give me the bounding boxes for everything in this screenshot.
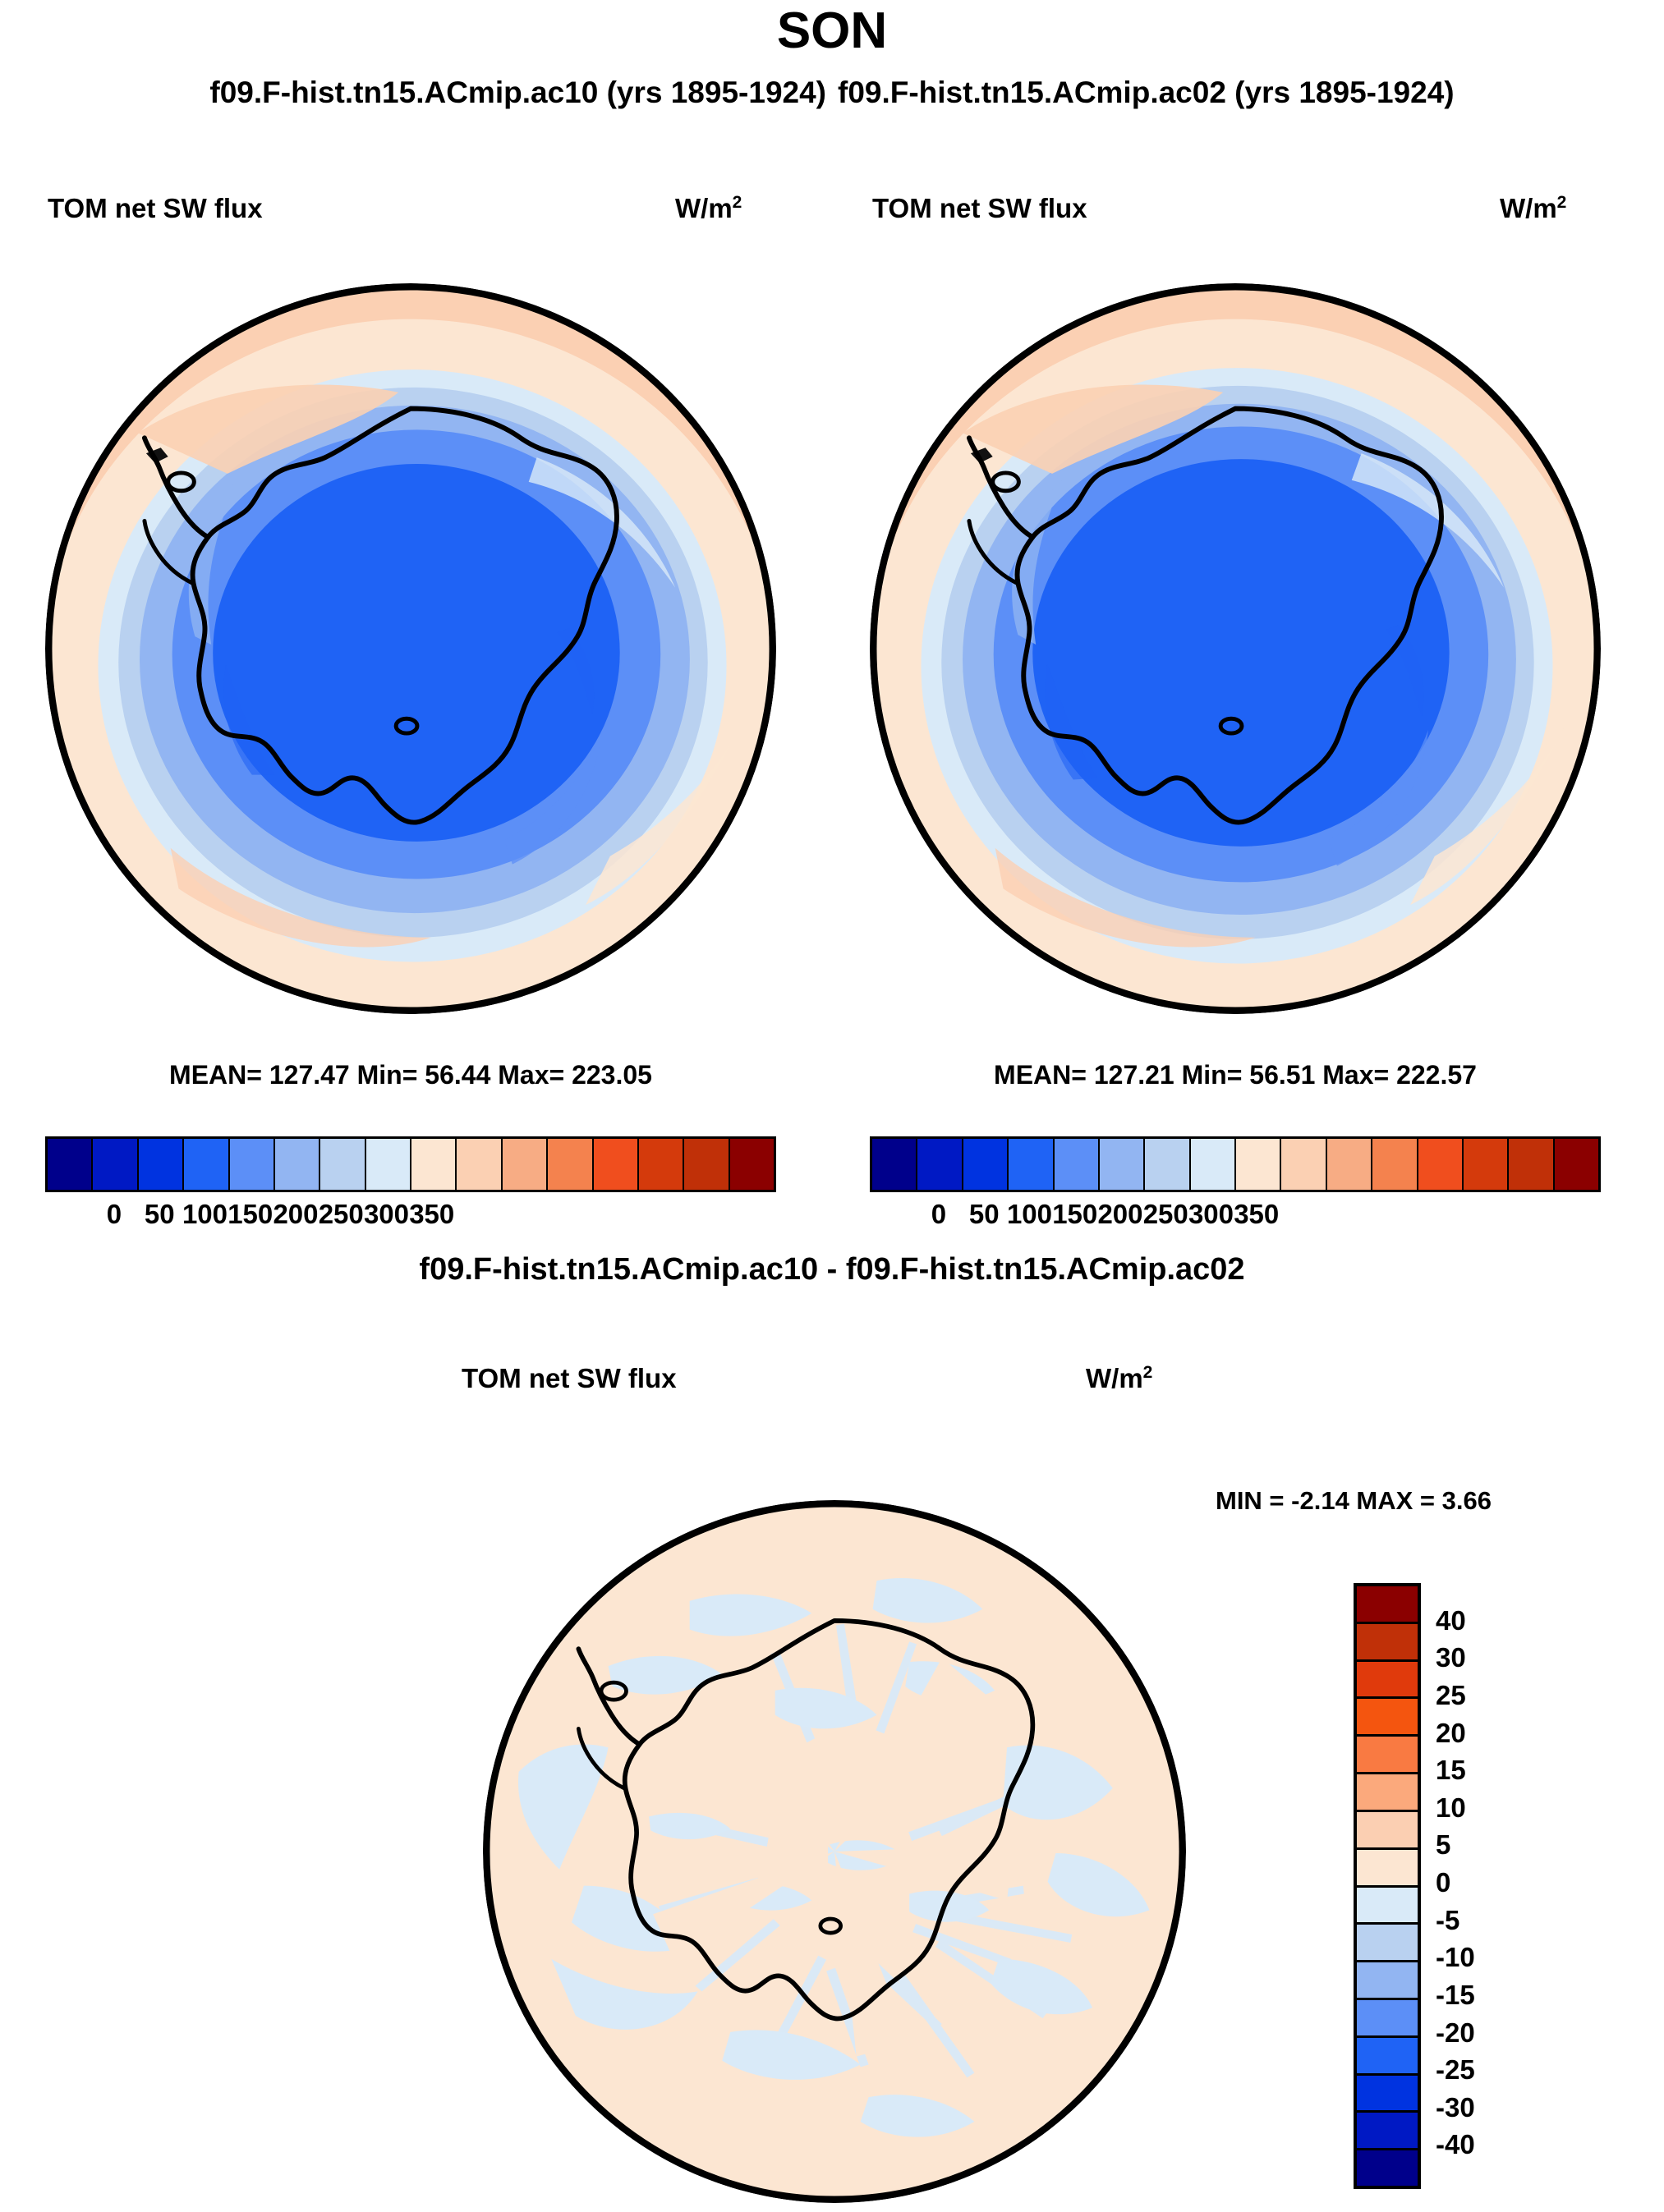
map-left-polar-stereographic[interactable]	[45, 283, 776, 1014]
diff-colorbar-tick-40: 40	[1436, 1605, 1466, 1636]
diff-colorbar-segment-2	[1357, 1662, 1418, 1700]
colorbar-segment-10	[1327, 1139, 1372, 1190]
colorbar-segment-7	[366, 1139, 411, 1190]
left-panel-variable-label: TOM net SW flux	[48, 193, 263, 224]
colorbar-segment-11	[1372, 1139, 1418, 1190]
diff-panel-variable-label: TOM net SW flux	[462, 1363, 677, 1394]
globe-difference	[483, 1500, 1186, 2203]
colorbar-tick-200: 200	[1097, 1199, 1142, 1230]
colorbar-segment-5	[275, 1139, 320, 1190]
colorbar-segment-11	[548, 1139, 593, 1190]
colorbar-segment-15	[730, 1139, 774, 1190]
colorbar-tick-250: 250	[1143, 1199, 1188, 1230]
colorbar-segment-5	[1100, 1139, 1145, 1190]
diff-colorbar-segment-0	[1357, 1586, 1418, 1624]
subtitle-left-case: f09.F-hist.tn15.ACmip.ac10 (yrs 1895-192…	[209, 76, 838, 110]
colorbar-segment-6	[1145, 1139, 1190, 1190]
right-units-base: W/m	[1500, 193, 1557, 223]
colorbar-tick-100: 100	[182, 1199, 228, 1230]
colorbar-tick-350: 350	[1234, 1199, 1279, 1230]
diff-colorbar-segment-13	[1357, 2076, 1418, 2113]
colorbar-segment-0	[872, 1139, 917, 1190]
diff-units-base: W/m	[1086, 1363, 1143, 1393]
colorbar-segment-12	[594, 1139, 639, 1190]
colorbar-tick-350: 350	[409, 1199, 454, 1230]
colorbar-segment-0	[48, 1139, 93, 1190]
colorbar-segment-3	[1009, 1139, 1054, 1190]
colorbar-segment-3	[184, 1139, 229, 1190]
diff-colorbar-tick-15: 15	[1436, 1755, 1466, 1786]
colorbar-segment-13	[1464, 1139, 1509, 1190]
diff-colorbar-segment-5	[1357, 1774, 1418, 1812]
subtitle-right-case: f09.F-hist.tn15.ACmip.ac02 (yrs 1895-192…	[838, 76, 1455, 110]
colorbar-tick-300: 300	[364, 1199, 409, 1230]
colorbar-tick-150: 150	[1052, 1199, 1097, 1230]
colorbar-tick-0: 0	[107, 1199, 122, 1230]
diff-units-exponent: 2	[1143, 1363, 1153, 1382]
diff-colorbar-tick-neg5: -5	[1436, 1905, 1459, 1936]
diff-colorbar-segment-8	[1357, 1888, 1418, 1925]
diff-colorbar-segment-1	[1357, 1624, 1418, 1662]
diff-colorbar-segment-3	[1357, 1699, 1418, 1737]
colorbar-segment-4	[1055, 1139, 1100, 1190]
right-panel-stats: MEAN= 127.21 Min= 56.51 Max= 222.57	[870, 1060, 1601, 1090]
colorbar-segment-7	[1191, 1139, 1236, 1190]
diff-colorbar-tick-0: 0	[1436, 1867, 1450, 1898]
colorbar-right-ticks: 050100150200250300350	[870, 1199, 1601, 1238]
colorbar-segment-4	[230, 1139, 275, 1190]
right-panel-variable-label: TOM net SW flux	[872, 193, 1087, 224]
left-units-exponent: 2	[733, 193, 742, 212]
diff-colorbar-segment-4	[1357, 1737, 1418, 1774]
colorbar-tick-100: 100	[1007, 1199, 1052, 1230]
diff-colorbar-segment-10	[1357, 1962, 1418, 2000]
diff-colorbar-tick-neg15: -15	[1436, 1980, 1475, 2011]
diff-colorbar-tick-neg40: -40	[1436, 2129, 1475, 2160]
diff-colorbar-segment-12	[1357, 2038, 1418, 2076]
diff-colorbar-tick-25: 25	[1436, 1680, 1466, 1711]
colorbar-segment-8	[411, 1139, 457, 1190]
diff-colorbar-tick-neg25: -25	[1436, 2054, 1475, 2086]
right-units-exponent: 2	[1557, 193, 1567, 212]
colorbar-tick-50: 50	[969, 1199, 1000, 1230]
diff-panel-units: W/m2	[1086, 1363, 1152, 1394]
colorbar-segment-10	[503, 1139, 548, 1190]
diff-colorbar-tick-neg20: -20	[1436, 2017, 1475, 2049]
left-panel-units: W/m2	[675, 193, 742, 224]
page-title: SON	[0, 2, 1664, 60]
colorbar-segment-14	[1509, 1139, 1554, 1190]
colorbar-tick-300: 300	[1188, 1199, 1234, 1230]
diff-colorbar-tick-neg10: -10	[1436, 1942, 1475, 1973]
diff-colorbar-segment-14	[1357, 2113, 1418, 2150]
diff-colorbar-tick-10: 10	[1436, 1792, 1466, 1824]
right-panel-units: W/m2	[1500, 193, 1566, 224]
colorbar-tick-0: 0	[931, 1199, 946, 1230]
diff-colorbar-segment-15	[1357, 2150, 1418, 2186]
colorbar-segment-12	[1418, 1139, 1464, 1190]
colorbar-tick-150: 150	[228, 1199, 273, 1230]
colorbar-segment-1	[917, 1139, 963, 1190]
colorbar-segment-9	[1281, 1139, 1326, 1190]
globe-right	[870, 283, 1601, 1014]
colorbar-tick-50: 50	[145, 1199, 175, 1230]
colorbar-segment-13	[639, 1139, 684, 1190]
map-right-polar-stereographic[interactable]	[870, 283, 1601, 1014]
colorbar-left-horizontal[interactable]	[45, 1136, 776, 1192]
colorbar-segment-1	[93, 1139, 138, 1190]
colorbar-segment-2	[963, 1139, 1009, 1190]
globe-left	[45, 283, 776, 1014]
diff-colorbar-tick-neg30: -30	[1436, 2092, 1475, 2123]
diff-colorbar-segment-11	[1357, 2000, 1418, 2038]
colorbar-segment-14	[684, 1139, 729, 1190]
subtitle-row: f09.F-hist.tn15.ACmip.ac10 (yrs 1895-192…	[0, 76, 1664, 110]
colorbar-right-horizontal[interactable]	[870, 1136, 1601, 1192]
colorbar-segment-2	[139, 1139, 184, 1190]
left-units-base: W/m	[675, 193, 733, 223]
colorbar-segment-15	[1555, 1139, 1598, 1190]
colorbar-segment-6	[320, 1139, 365, 1190]
colorbar-difference-ticks: 40302520151050-5-10-15-20-25-30-40	[1431, 1583, 1554, 2182]
left-panel-stats: MEAN= 127.47 Min= 56.44 Max= 223.05	[45, 1060, 776, 1090]
diff-colorbar-tick-5: 5	[1436, 1829, 1450, 1861]
diff-colorbar-segment-6	[1357, 1812, 1418, 1850]
colorbar-tick-200: 200	[273, 1199, 318, 1230]
diff-colorbar-segment-9	[1357, 1925, 1418, 1962]
diff-colorbar-segment-7	[1357, 1850, 1418, 1888]
diff-colorbar-tick-30: 30	[1436, 1642, 1466, 1673]
colorbar-segment-9	[457, 1139, 502, 1190]
colorbar-tick-250: 250	[319, 1199, 364, 1230]
map-difference-polar-stereographic[interactable]	[483, 1500, 1186, 2203]
colorbar-segment-8	[1236, 1139, 1281, 1190]
colorbar-difference-vertical[interactable]	[1354, 1583, 1421, 2189]
difference-title: f09.F-hist.tn15.ACmip.ac10 - f09.F-hist.…	[0, 1252, 1664, 1287]
colorbar-left-ticks: 050100150200250300350	[45, 1199, 776, 1238]
diff-colorbar-tick-20: 20	[1436, 1718, 1466, 1749]
diff-minmax-annotation: MIN = -2.14 MAX = 3.66	[1216, 1486, 1492, 1516]
